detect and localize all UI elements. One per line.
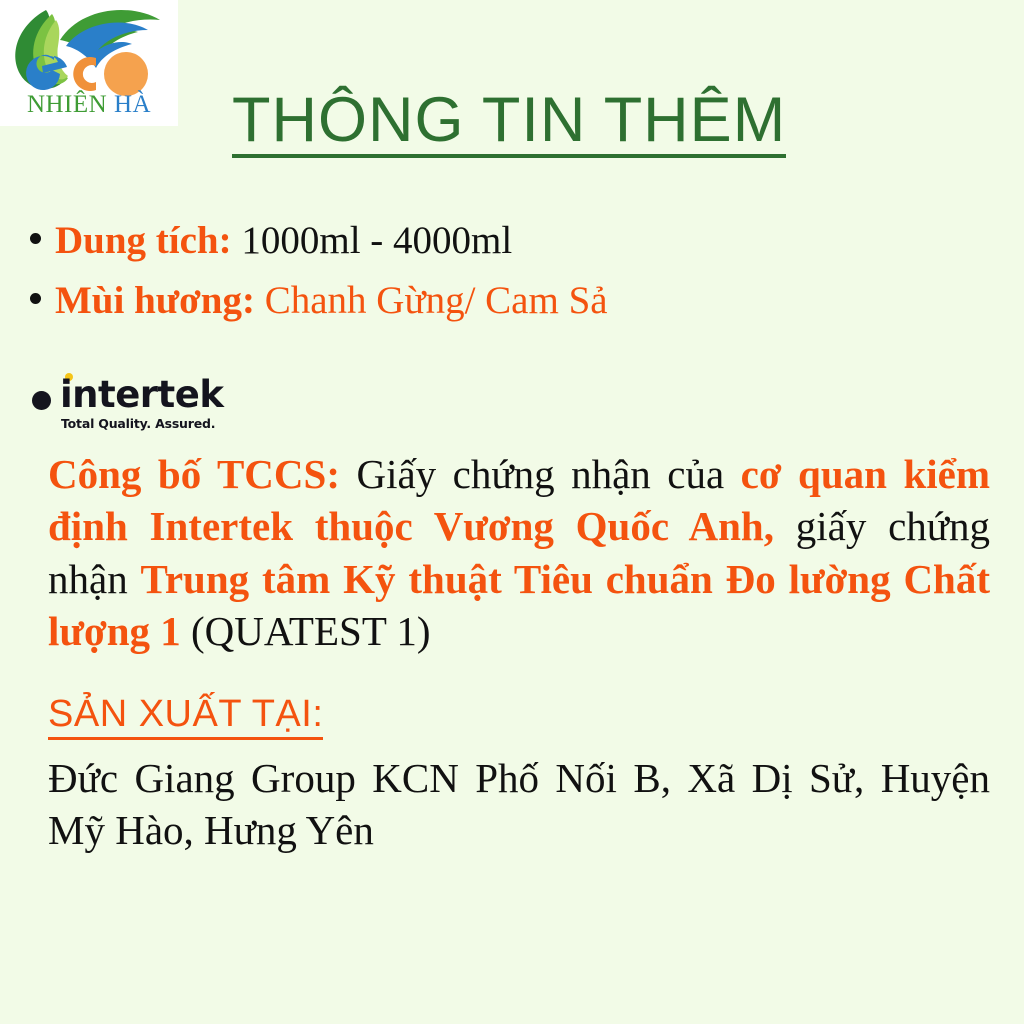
eco-logo-mark — [0, 0, 178, 96]
bullet-label: Mùi hương: — [55, 279, 255, 322]
logo-wordmark: NHIÊN HÀ — [0, 92, 178, 117]
bullet-value: 1000ml - 4000ml — [232, 219, 513, 262]
list-item: Dung tích: 1000ml - 4000ml — [30, 214, 990, 268]
intertek-logo: intertek Total Quality. Assured. — [32, 368, 272, 438]
intertek-tagline: Total Quality. Assured. — [61, 418, 215, 431]
page-title: THÔNG TIN THÊM — [232, 88, 786, 158]
tccs-segment-label: Công bố TCCS: — [48, 451, 340, 497]
manufacturing-address: Đức Giang Group KCN Phố Nối B, Xã Dị Sử,… — [48, 752, 990, 857]
bullet-text: Dung tích: 1000ml - 4000ml — [55, 214, 512, 268]
intertek-dot-icon — [32, 391, 51, 410]
list-item: Mùi hương: Chanh Gừng/ Cam Sả — [30, 274, 990, 328]
bullet-label: Dung tích: — [55, 219, 232, 262]
tccs-segment-plain-3: (QUATEST 1) — [181, 608, 431, 654]
bullet-dot-icon — [30, 293, 41, 304]
spec-bullet-list: Dung tích: 1000ml - 4000ml Mùi hương: Ch… — [30, 214, 990, 334]
tccs-segment-plain-1: Giấy chứng nhận của — [340, 451, 741, 497]
bullet-text: Mùi hương: Chanh Gừng/ Cam Sả — [55, 274, 608, 328]
bullet-dot-icon — [30, 233, 41, 244]
bullet-value: Chanh Gừng/ Cam Sả — [255, 279, 608, 322]
brand-logo-box: NHIÊN HÀ — [0, 0, 178, 126]
manufacturing-heading: SẢN XUẤT TẠI: — [48, 694, 323, 740]
tccs-paragraph: Công bố TCCS: Giấy chứng nhận của cơ qua… — [48, 448, 990, 658]
logo-wordmark-part2: HÀ — [114, 91, 151, 118]
logo-wordmark-part1: NHIÊN — [27, 91, 107, 118]
intertek-brand-text: intertek — [60, 376, 223, 413]
